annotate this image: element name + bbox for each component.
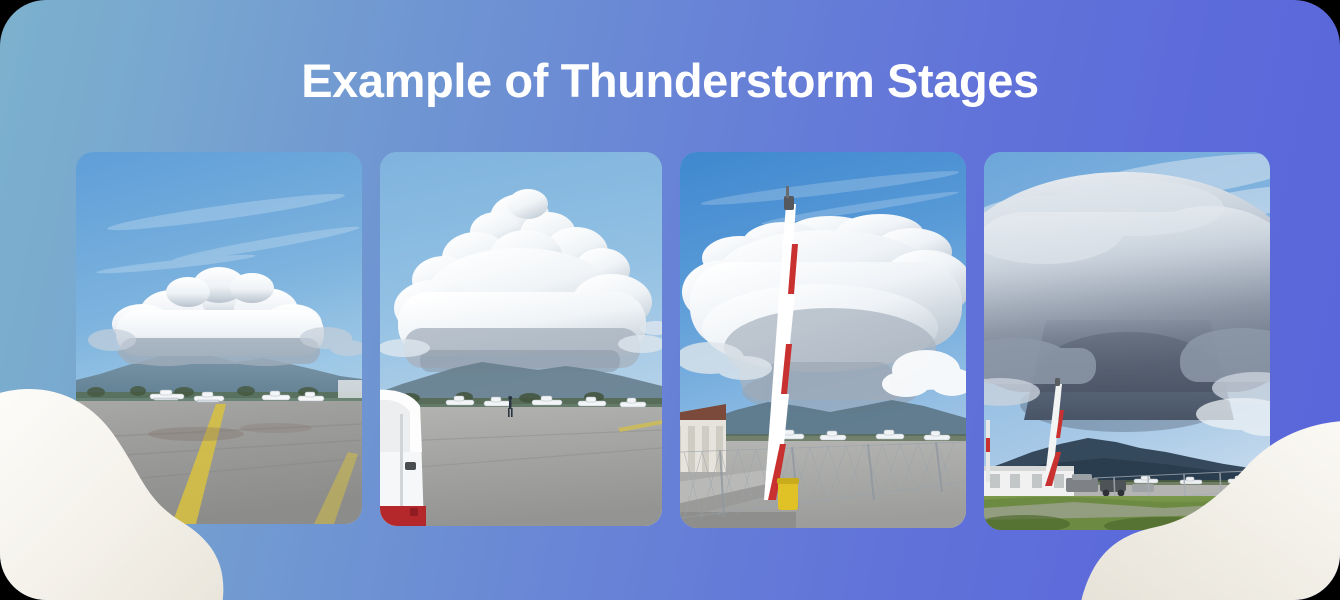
gallery-photo-4[interactable] xyxy=(984,152,1270,530)
thunderstorm-photo-towering-cumulus-stage xyxy=(380,152,662,526)
service-vehicle xyxy=(380,390,426,526)
thunderstorm-photo-dissipating-stage xyxy=(984,152,1270,530)
striped-mast-tiny xyxy=(986,420,990,482)
hangar-building xyxy=(984,466,1074,496)
thunderstorm-photo-mature-stage xyxy=(680,152,966,528)
gallery-photo-2[interactable] xyxy=(380,152,662,526)
gallery-photo-1[interactable] xyxy=(76,152,362,524)
page-title: Example of Thunderstorm Stages xyxy=(0,52,1340,110)
thunderstorm-photo-cumulus-stage xyxy=(76,152,362,524)
photo-gallery xyxy=(76,152,1266,530)
poster-canvas: Example of Thunderstorm Stages xyxy=(0,0,1340,600)
yellow-bin xyxy=(777,478,799,510)
gallery-photo-3[interactable] xyxy=(680,152,966,528)
